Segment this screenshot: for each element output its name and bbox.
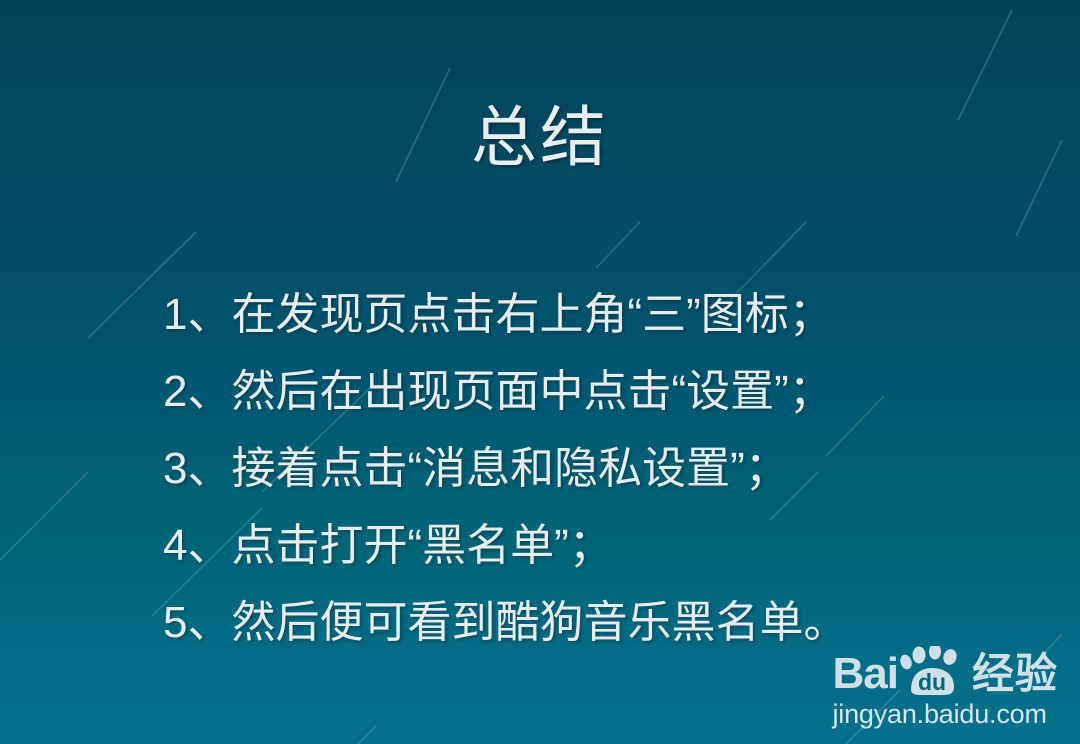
list-item: 1、在发现页点击右上角“三”图标；: [163, 276, 1043, 353]
page-title: 总结: [0, 104, 1080, 170]
summary-slide: 总结 1、在发现页点击右上角“三”图标； 2、然后在出现页面中点击“设置”； 3…: [0, 0, 1080, 744]
list-item: 3、接着点击“消息和隐私设置”；: [163, 430, 1043, 507]
list-item: 4、点击打开“黑名单”；: [163, 507, 1043, 584]
jingyan-wordmark-cn: 经验: [972, 652, 1058, 696]
list-item: 2、然后在出现页面中点击“设置”；: [163, 353, 1043, 430]
watermark-url: jingyan.baidu.com: [833, 698, 1059, 730]
baidu-jingyan-watermark: Bai du 经验 jingyan.baidu.com: [833, 646, 1059, 730]
steps-list: 1、在发现页点击右上角“三”图标； 2、然后在出现页面中点击“设置”； 3、接着…: [163, 276, 1043, 661]
baidu-wordmark-latin: Bai: [833, 652, 898, 696]
svg-text:du: du: [918, 669, 946, 695]
watermark-logo-row: Bai du 经验: [833, 646, 1059, 696]
paw-print-icon: du: [899, 646, 965, 696]
